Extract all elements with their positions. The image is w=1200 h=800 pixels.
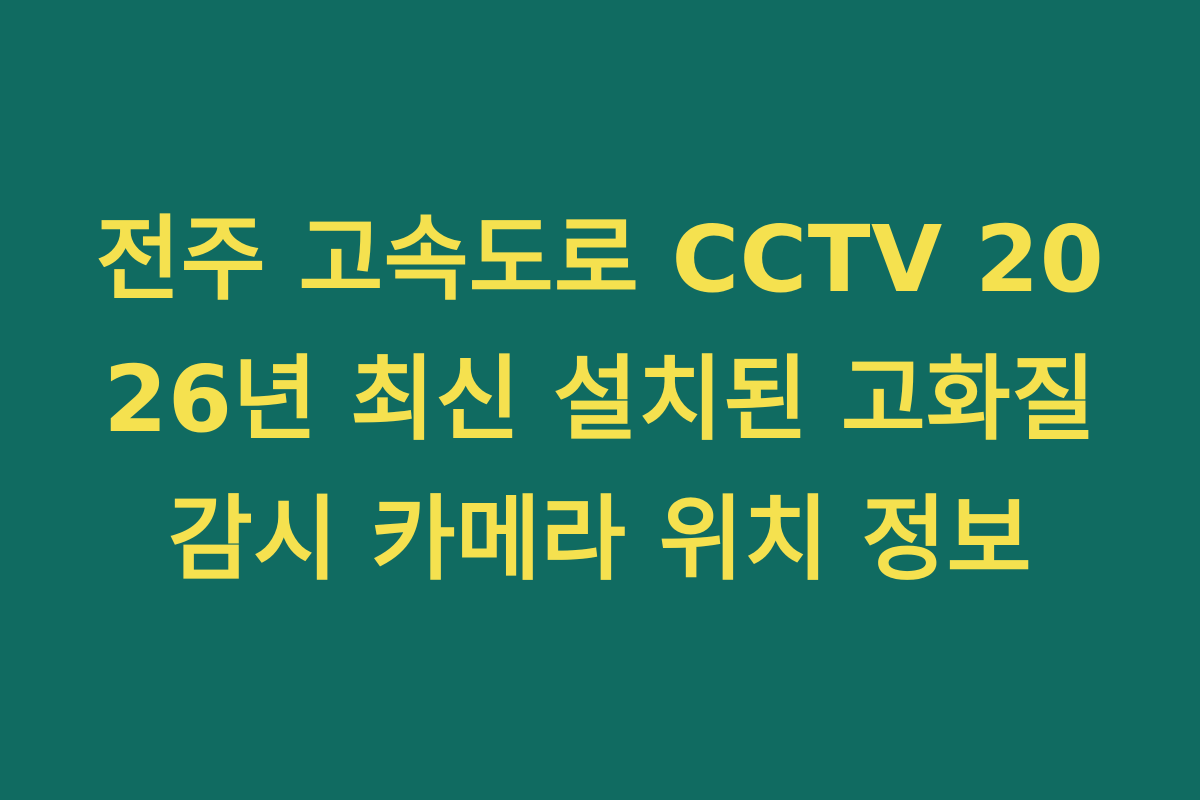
title-card-banner: 전주 고속도로 CCTV 20 26년 최신 설치된 고화질 감시 카메라 위치… (0, 0, 1200, 800)
title-line-1: 전주 고속도로 CCTV 20 (96, 190, 1104, 330)
page-title: 전주 고속도로 CCTV 20 26년 최신 설치된 고화질 감시 카메라 위치… (70, 190, 1130, 609)
title-line-3: 감시 카메라 위치 정보 (168, 470, 1032, 610)
title-line-2: 26년 최신 설치된 고화질 (104, 330, 1097, 470)
